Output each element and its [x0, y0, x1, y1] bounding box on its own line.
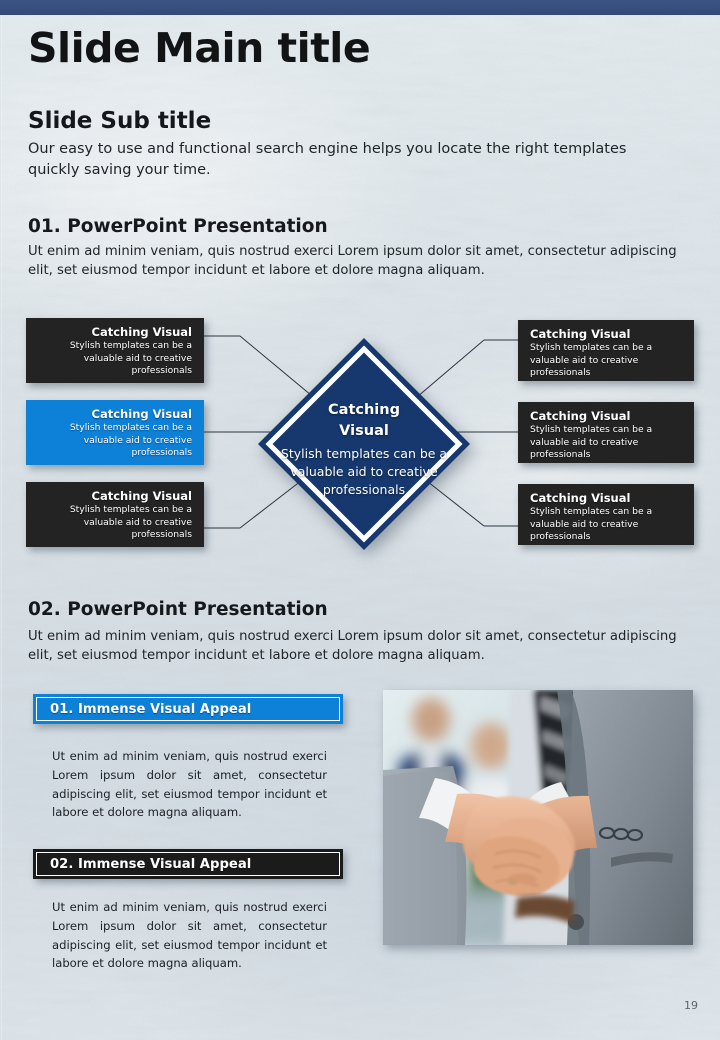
page-title: Slide Main title — [28, 28, 370, 69]
top-accent-bar — [0, 0, 720, 15]
business-handshake-photo — [383, 690, 693, 945]
feature-bar-01[interactable]: 01. Immense Visual Appeal — [33, 694, 343, 724]
diagram-node-left-1[interactable]: Catching Visual Stylish templates can be… — [26, 318, 204, 383]
node-body: Stylish templates can be a valuable aid … — [38, 422, 192, 459]
hub-and-spoke-diagram: Catching Visual Stylish templates can be… — [0, 300, 720, 570]
node-body: Stylish templates can be a valuable aid … — [530, 342, 682, 379]
diagram-node-left-2[interactable]: Catching Visual Stylish templates can be… — [26, 400, 204, 465]
node-title: Catching Visual — [530, 409, 682, 423]
diagram-node-right-3[interactable]: Catching Visual Stylish templates can be… — [518, 484, 694, 545]
node-body: Stylish templates can be a valuable aid … — [38, 504, 192, 541]
feature-bar-02-label: 02. Immense Visual Appeal — [36, 852, 340, 876]
section-1-description: Ut enim ad minim veniam, quis nostrud ex… — [28, 242, 688, 281]
section-1-heading: 01. PowerPoint Presentation — [28, 218, 328, 237]
node-body: Stylish templates can be a valuable aid … — [530, 506, 682, 543]
diagram-node-right-2[interactable]: Catching Visual Stylish templates can be… — [518, 402, 694, 463]
node-body: Stylish templates can be a valuable aid … — [530, 424, 682, 461]
page-number: 19 — [684, 999, 698, 1012]
node-title: Catching Visual — [38, 407, 192, 421]
node-title: Catching Visual — [38, 489, 192, 503]
feature-bar-01-label: 01. Immense Visual Appeal — [36, 697, 340, 721]
node-body: Stylish templates can be a valuable aid … — [38, 340, 192, 377]
feature-body-02: Ut enim ad minim veniam, quis nostrud ex… — [52, 898, 327, 973]
diagram-node-right-1[interactable]: Catching Visual Stylish templates can be… — [518, 320, 694, 381]
page-subtitle-description: Our easy to use and functional search en… — [28, 139, 648, 180]
diagram-node-left-3[interactable]: Catching Visual Stylish templates can be… — [26, 482, 204, 547]
feature-bar-02[interactable]: 02. Immense Visual Appeal — [33, 849, 343, 879]
node-title: Catching Visual — [530, 491, 682, 505]
slide-canvas: Slide Main title Slide Sub title Our eas… — [0, 0, 720, 1040]
center-diamond-shape[interactable] — [258, 338, 470, 550]
page-subtitle: Slide Sub title — [28, 110, 211, 133]
section-2-heading: 02. PowerPoint Presentation — [28, 601, 328, 620]
feature-body-01: Ut enim ad minim veniam, quis nostrud ex… — [52, 747, 327, 822]
node-title: Catching Visual — [38, 325, 192, 339]
section-2-description: Ut enim ad minim veniam, quis nostrud ex… — [28, 627, 688, 666]
node-title: Catching Visual — [530, 327, 682, 341]
